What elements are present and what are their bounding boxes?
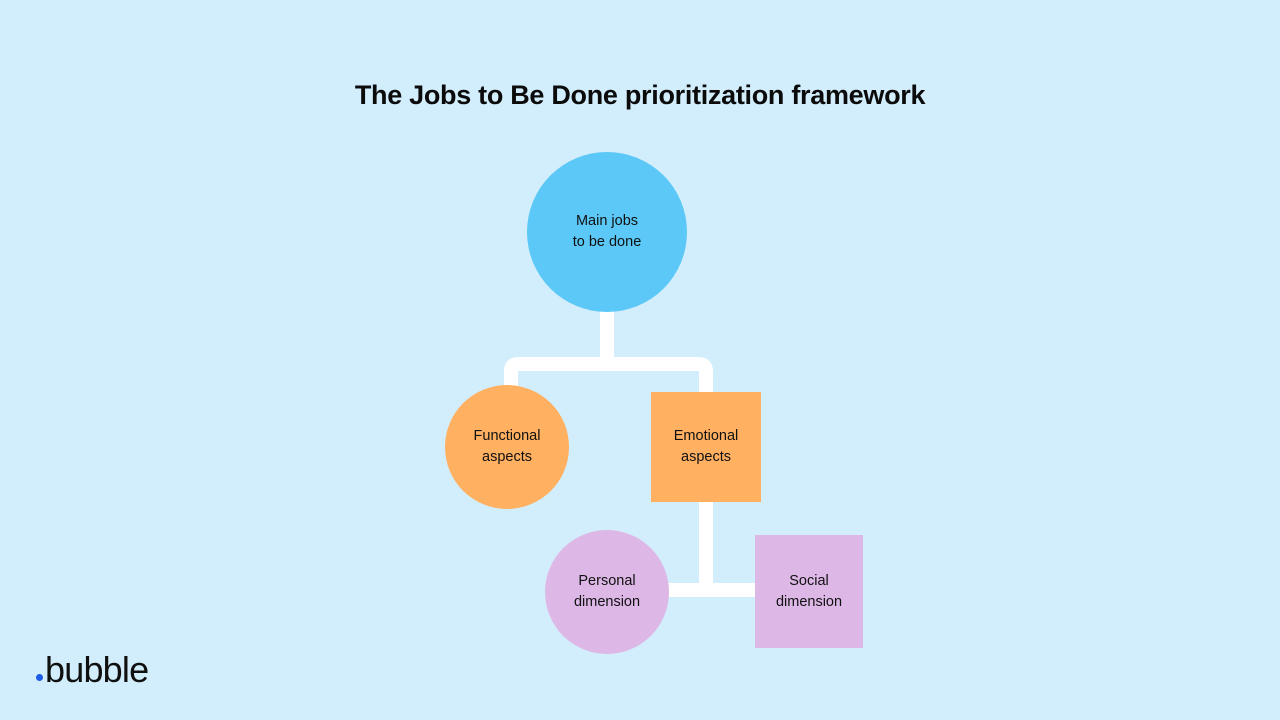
node-social-dimension[interactable]: Social dimension	[755, 535, 863, 648]
node-emotional-aspects[interactable]: Emotional aspects	[651, 392, 761, 502]
node-label: Social dimension	[770, 571, 848, 613]
logo-wordmark: bubble	[45, 652, 148, 688]
node-label: Functional aspects	[468, 426, 547, 468]
node-personal-dimension[interactable]: Personal dimension	[545, 530, 669, 654]
node-label: Personal dimension	[568, 571, 646, 613]
slide-canvas: The Jobs to Be Done prioritization frame…	[0, 0, 1280, 720]
node-main-jobs-to-be-done[interactable]: Main jobs to be done	[527, 152, 687, 312]
node-label: Main jobs to be done	[567, 211, 648, 253]
node-functional-aspects[interactable]: Functional aspects	[445, 385, 569, 509]
bubble-logo: bubble	[36, 652, 148, 692]
blue-dot-icon	[36, 674, 43, 681]
node-label: Emotional aspects	[668, 426, 744, 468]
